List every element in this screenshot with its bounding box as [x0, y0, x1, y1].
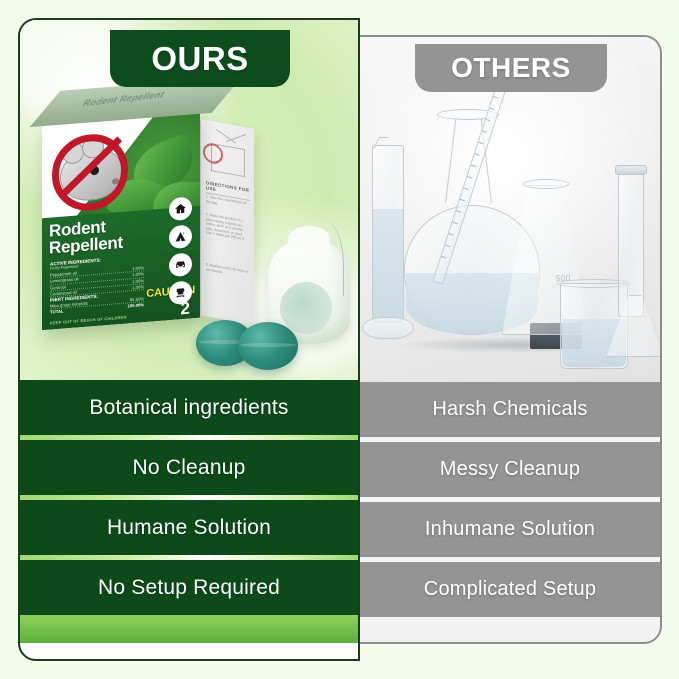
car-icon — [169, 252, 192, 277]
others-panel-footer-strip — [360, 617, 660, 641]
ours-panel: DIRECTIONS FOR USE 1. Take the repellent… — [0, 0, 360, 679]
cylinder-base — [362, 317, 414, 339]
others-feature-row: Inhumane Solution — [360, 502, 660, 557]
others-panel: 500 Harsh Chemicals Messy Cleanup Inhuma… — [360, 0, 679, 679]
product-title: Rodent Repellent — [49, 217, 123, 257]
directions-step: 2. Place the product in a place where ro… — [206, 212, 250, 243]
directions-step: 3. Replace every 30 days or as needed. — [206, 262, 250, 279]
others-panel-frame: 500 Harsh Chemicals Messy Cleanup Inhuma… — [360, 35, 662, 644]
keep-out-warning: KEEP OUT OF REACH OF CHILDREN — [50, 315, 127, 326]
ours-panel-frame: DIRECTIONS FOR USE 1. Take the repellent… — [18, 18, 360, 661]
no-rodent-icon — [50, 125, 132, 215]
ingredient-value: 1.00% — [132, 265, 144, 271]
ours-feature-row: No Cleanup — [20, 440, 358, 495]
ours-feature-row: No Setup Required — [20, 560, 358, 615]
ingredient-value: 1.00% — [132, 278, 144, 284]
others-header-badge: OTHERS — [415, 44, 607, 92]
armchair-icon — [169, 280, 192, 305]
ingredients-panel: ACTIVE INGREDIENTS: (% By Proportion) Pe… — [50, 254, 144, 315]
total-label: TOTAL — [50, 309, 64, 315]
others-feature-row: Messy Cleanup — [360, 442, 660, 497]
ours-feature-rows: Botanical ingredients No Cleanup Humane … — [20, 380, 358, 643]
ours-feature-row: Botanical ingredients — [20, 380, 358, 435]
sachet-drawstring — [314, 222, 344, 296]
ingredient-value: 1.00% — [132, 284, 144, 290]
product-box: Rodent Repellent ACTIVE INGREDIENTS: (% … — [42, 110, 200, 330]
cylinder-liquid — [373, 209, 403, 322]
product-box-side-panel: DIRECTIONS FOR USE 1. Take the repellent… — [200, 119, 254, 325]
ours-header-badge: OURS — [110, 30, 290, 87]
ingredient-value: 1.00% — [132, 271, 144, 277]
others-feature-rows: Harsh Chemicals Messy Cleanup Inhumane S… — [360, 382, 660, 641]
product-box-front: Rodent Repellent ACTIVE INGREDIENTS: (% … — [42, 110, 200, 330]
flask-stopper — [615, 165, 647, 175]
flask-neck-wall — [445, 118, 457, 204]
ours-panel-footer-strip — [20, 615, 358, 643]
house-icon — [169, 196, 192, 221]
erlenmeyer-rim — [523, 179, 569, 189]
ours-feature-row: Humane Solution — [20, 500, 358, 555]
use-location-icons — [169, 196, 192, 310]
total-value: 100.00% — [127, 302, 144, 309]
repellent-tablet — [238, 322, 298, 370]
comparison-board: DIRECTIONS FOR USE 1. Take the repellent… — [0, 0, 679, 679]
box-top-brand-text: Rodent Repellent — [81, 89, 167, 108]
tent-camping-icon — [169, 224, 192, 249]
others-feature-row: Complicated Setup — [360, 562, 660, 617]
others-feature-row: Harsh Chemicals — [360, 382, 660, 437]
